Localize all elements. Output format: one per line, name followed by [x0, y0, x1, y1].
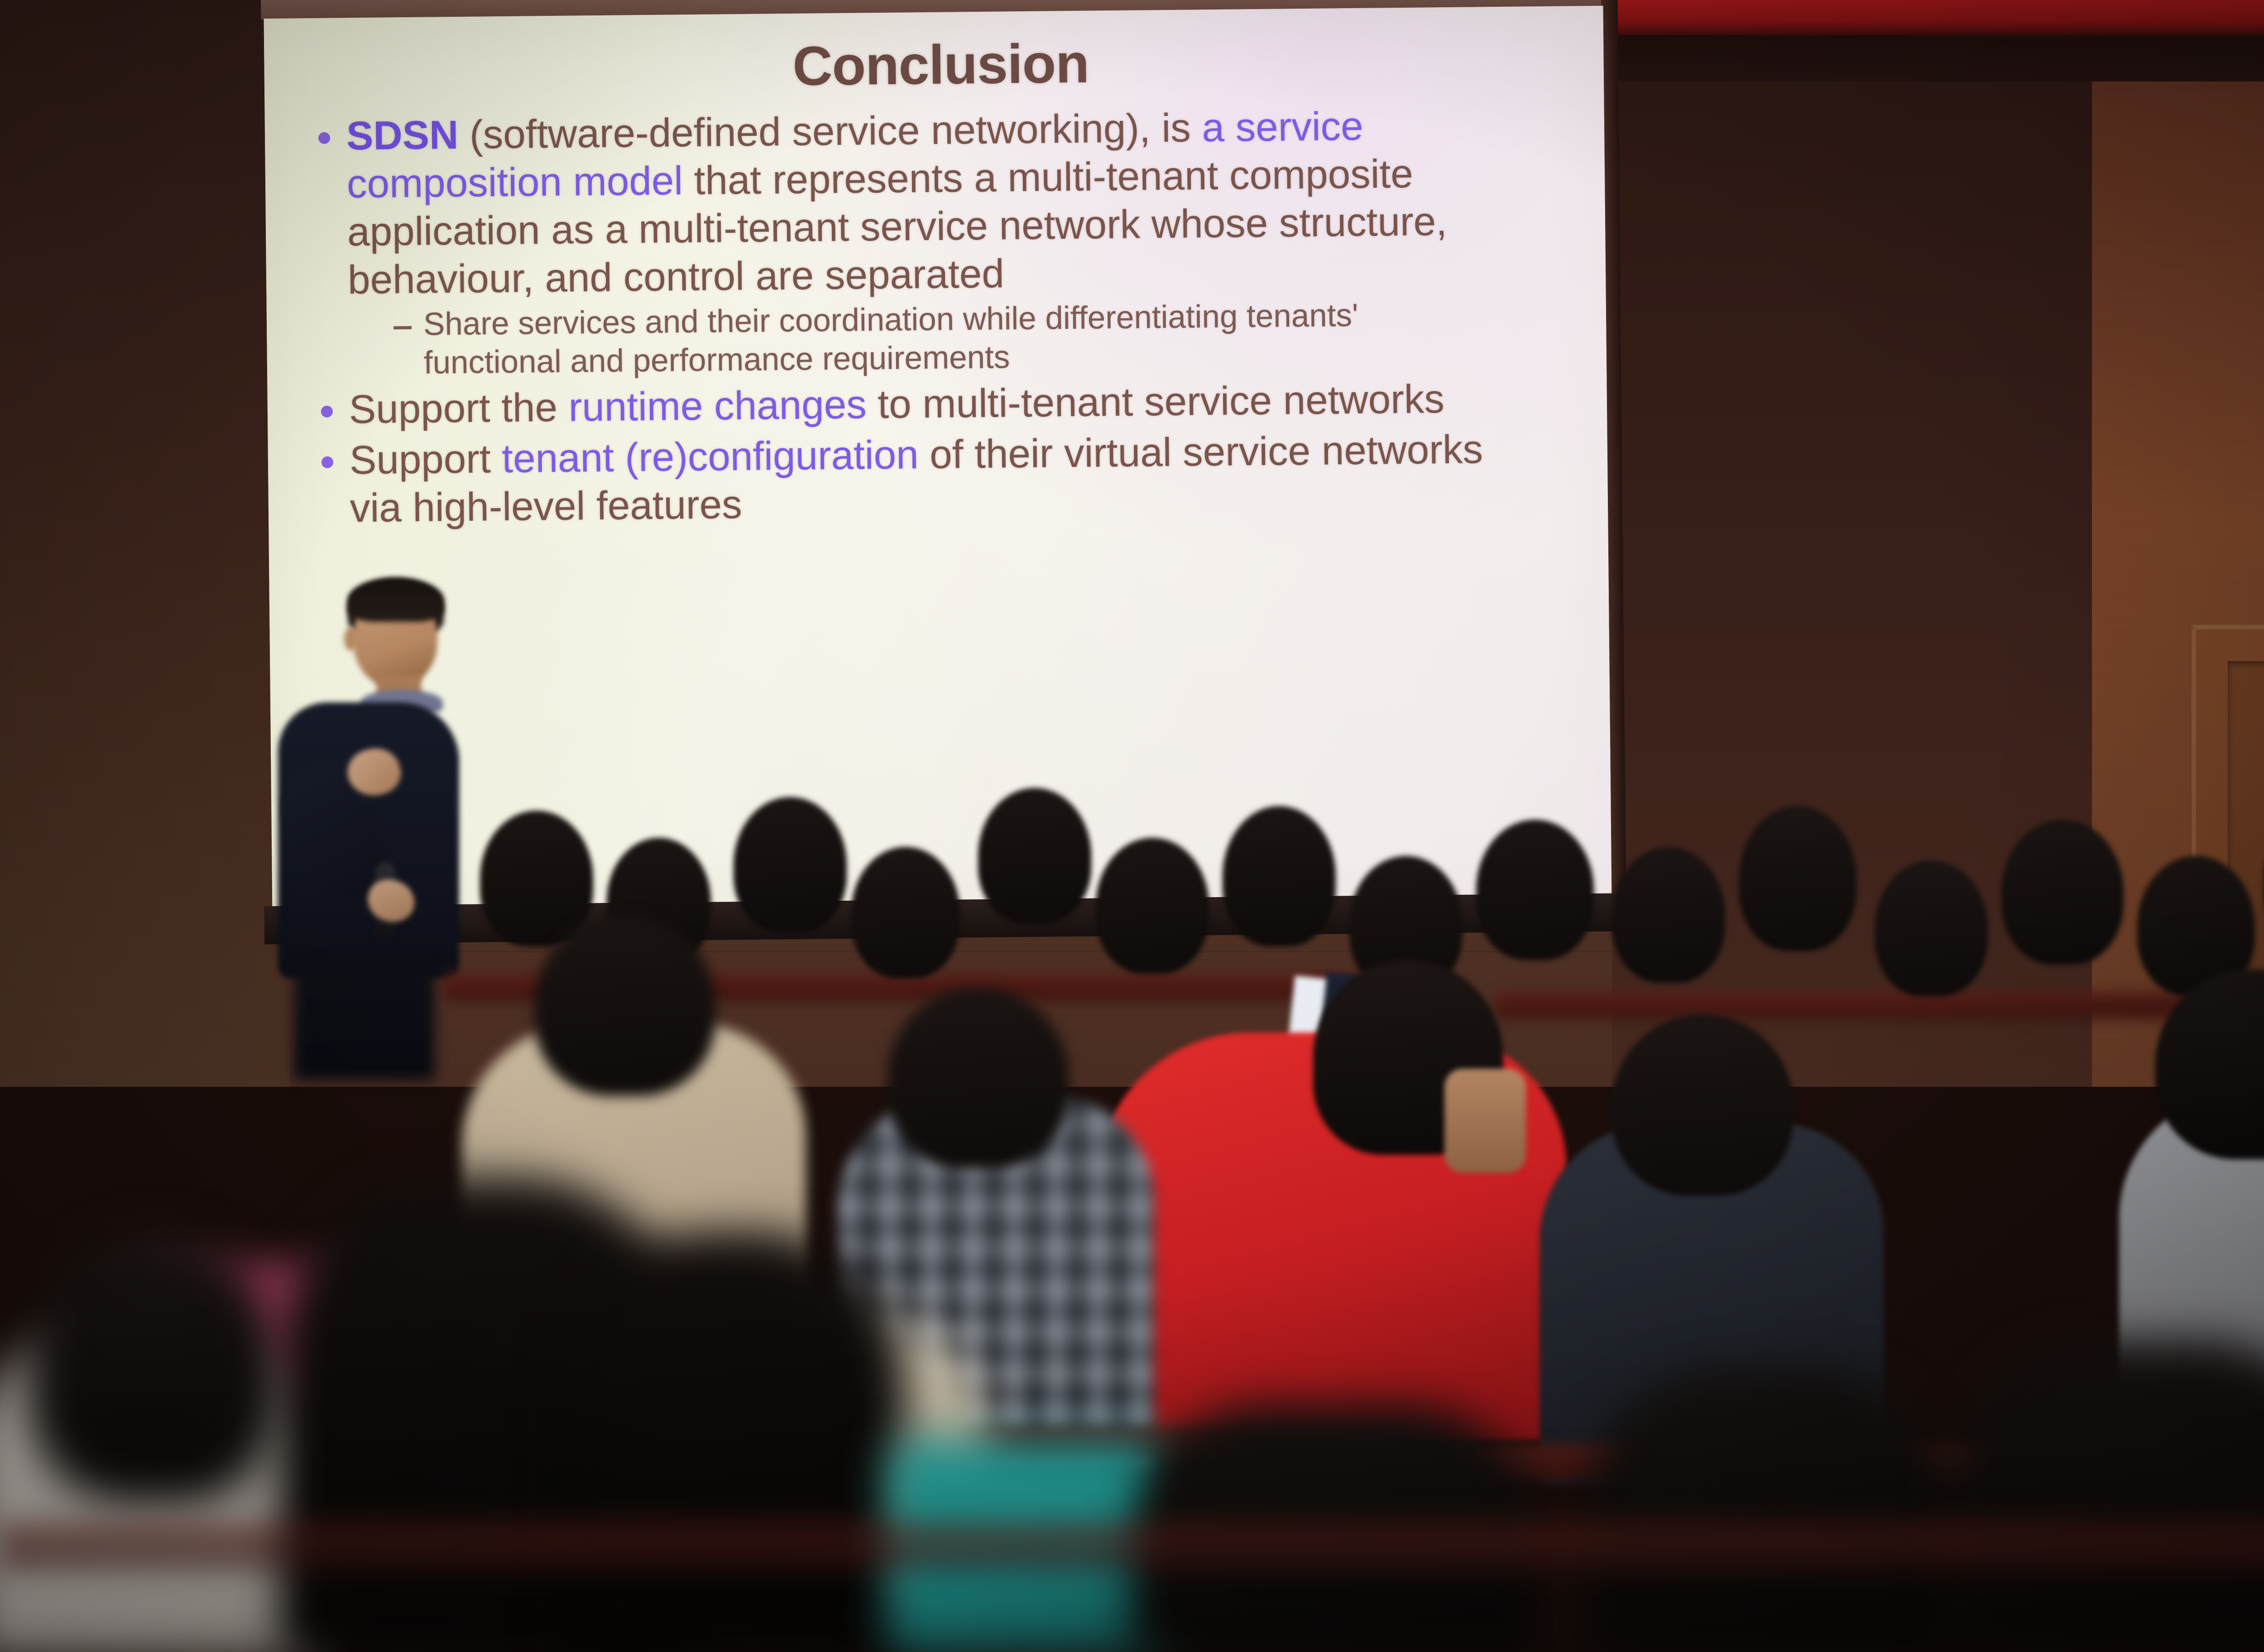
slide-bullet-1-text: SDSN (software-defined service networkin… — [346, 101, 1507, 304]
list-item — [1585, 1368, 1956, 1652]
slide-bullet-4: Support tenant (re)configuration of thei… — [317, 424, 1572, 532]
list-item — [1223, 806, 1336, 946]
beige-coat-head — [534, 915, 715, 1096]
bullet-3-seg-0: Support the — [349, 384, 569, 432]
bullet-3-seg-1: runtime changes — [568, 381, 867, 429]
bullet-4-seg-0: Support — [349, 436, 502, 482]
audience — [0, 779, 2264, 1652]
slide-bullet-3: Support the runtime changes to multi-ten… — [317, 374, 1571, 433]
slide-bullet-3-text: Support the runtime changes to multi-ten… — [349, 375, 1444, 433]
list-item — [480, 811, 593, 946]
presenter-hair-front — [348, 578, 444, 622]
list-item — [561, 1232, 906, 1652]
list-item — [734, 797, 847, 933]
list-item — [1739, 806, 1856, 951]
bullet-dot-icon — [321, 406, 333, 418]
list-item — [978, 788, 1091, 924]
list-item — [1612, 847, 1725, 983]
bench-front-rail — [0, 1522, 2264, 1571]
slide-bullet-1: SDSN (software-defined service networkin… — [315, 100, 1570, 304]
list-item — [1875, 860, 1988, 996]
list-item — [2001, 820, 2124, 965]
list-item — [851, 847, 960, 978]
presenter-ear — [344, 627, 358, 651]
bullet-1-seg-0: SDSN — [346, 112, 459, 158]
slide-title: Conclusion — [314, 27, 1568, 102]
bullet-3-seg-2: to multi-tenant service networks — [866, 376, 1444, 427]
lecture-hall-scene: Conclusion SDSN (software-defined servic… — [0, 0, 2264, 1652]
list-item — [1096, 838, 1209, 974]
slide-bullet-4-text: Support tenant (re)configuration of thei… — [349, 425, 1509, 532]
bullet-4-seg-1: tenant (re)configuration — [502, 432, 919, 481]
plaid-shirt-head — [887, 987, 1069, 1168]
bullet-1-seg-1: (software-defined service networking), i… — [458, 105, 1202, 157]
bullet-dot-icon — [321, 456, 333, 468]
red-jacket-neck — [1444, 1069, 1526, 1173]
bullet-dash-icon — [393, 326, 412, 329]
presentation-slide: Conclusion SDSN (software-defined servic… — [264, 6, 1612, 909]
bullet-2-seg-0: Share services and their coordination wh… — [423, 298, 1358, 381]
bench-row-back-2 — [1494, 992, 2264, 1019]
slide-bullet-2-text: Share services and their coordination wh… — [423, 296, 1375, 382]
list-item — [1612, 1014, 1793, 1196]
slide-bullet-2: Share services and their coordination wh… — [317, 294, 1571, 383]
bullet-dot-icon — [318, 132, 330, 144]
list-item — [1947, 1340, 2264, 1652]
list-item — [27, 1232, 281, 1503]
list-item — [1476, 820, 1594, 960]
